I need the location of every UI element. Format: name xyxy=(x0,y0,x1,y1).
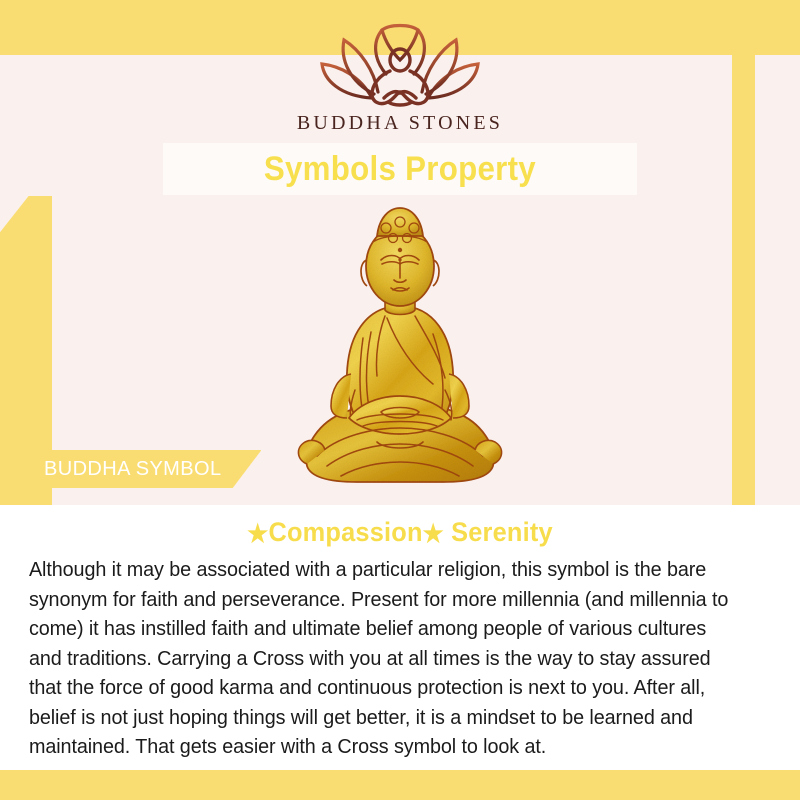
heading-compassion: Compassion xyxy=(268,517,422,547)
lotus-meditation-icon xyxy=(310,22,490,110)
seated-buddha-icon xyxy=(293,198,508,490)
poster-canvas: BUDDHA STONES Symbols Property xyxy=(0,0,800,800)
page-title: Symbols Property xyxy=(264,150,536,189)
heading-serenity: Serenity xyxy=(444,517,553,547)
brand-name: BUDDHA STONES xyxy=(0,112,800,135)
symbol-tag-label: BUDDHA SYMBOL xyxy=(44,458,221,481)
symbol-tag: BUDDHA SYMBOL xyxy=(22,450,261,488)
section-heading: ★Compassion★ Serenity xyxy=(24,505,776,549)
description-panel: ★Compassion★ Serenity Although it may be… xyxy=(0,505,800,770)
brand-logo: BUDDHA STONES xyxy=(0,22,800,135)
star-middle-icon: ★ xyxy=(423,520,444,548)
title-banner: Symbols Property xyxy=(163,143,637,195)
poster-content: BUDDHA STONES Symbols Property xyxy=(0,0,800,800)
star-left-icon: ★ xyxy=(247,520,268,548)
description-text: Although it may be associated with a par… xyxy=(0,555,772,762)
